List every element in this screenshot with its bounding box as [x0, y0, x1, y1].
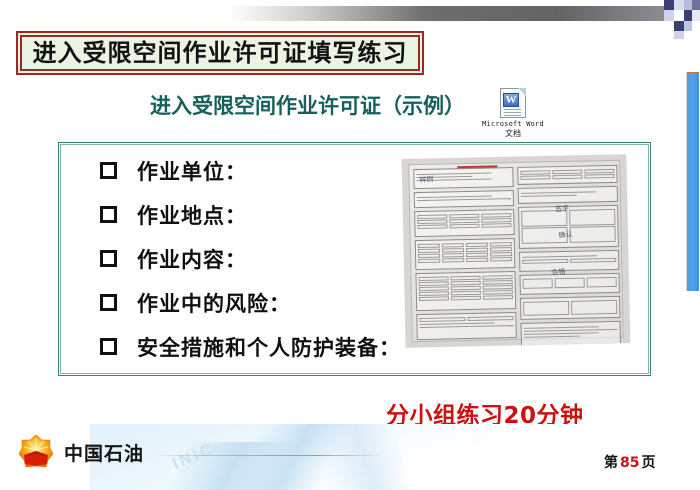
permit-form-photograph: 样例 签字 确认 合格 [402, 155, 630, 348]
hollow-square-bullet-icon [100, 250, 117, 267]
list-item-label: 作业单位： [137, 156, 247, 186]
list-item-label: 作业中的风险： [137, 288, 291, 318]
list-item-label: 安全措施和个人防护装备： [137, 332, 401, 362]
page-number: 第85页 [604, 452, 655, 472]
form-block [519, 250, 619, 272]
page-title: 进入受限空间作业许可证填写练习 [33, 41, 408, 65]
right-blue-strip [687, 72, 699, 291]
form-right-column [517, 165, 621, 337]
hollow-square-bullet-icon [100, 294, 117, 311]
handwriting-mark: 确认 [558, 229, 573, 240]
list-item: 作业地点： [100, 196, 400, 233]
subtitle-row: 进入受限空间作业许可证（示例） W Microsoft Word 文档 [150, 92, 551, 138]
form-block [517, 165, 617, 185]
checker-square [684, 0, 692, 10]
bullet-list: 作业单位： 作业地点： 作业内容： 作业中的风险： 安全措施和个人防护装备： [100, 152, 400, 372]
form-block [520, 273, 620, 295]
list-item: 作业内容： [100, 240, 400, 277]
form-block [520, 296, 620, 320]
permit-form-sheet: 样例 签字 确认 合格 [408, 160, 624, 342]
handwriting-mark: 签字 [555, 203, 570, 214]
handwriting-mark: 样例 [419, 174, 434, 185]
page-number-value: 85 [618, 455, 641, 471]
slide-canvas: 进入受限空间作业许可证填写练习 进入受限空间作业许可证（示例） W Micros… [0, 0, 700, 490]
form-block [414, 190, 514, 208]
list-item: 安全措施和个人防护装备： [100, 328, 400, 365]
form-block [416, 312, 517, 340]
form-left-column [413, 167, 517, 339]
checker-square [684, 21, 692, 31]
footer-divider [150, 455, 385, 456]
list-item-label: 作业地点： [137, 200, 247, 230]
form-block [415, 238, 516, 270]
checker-square [674, 31, 684, 39]
footer-texture-highlight [115, 442, 425, 490]
checker-square [674, 0, 684, 10]
page-fold-corner-icon [518, 88, 526, 96]
handwriting-mark: 合格 [551, 267, 566, 278]
slide-title-box: 进入受限空间作业许可证填写练习 [16, 31, 424, 75]
hollow-square-bullet-icon [100, 338, 117, 355]
list-item: 作业单位： [100, 152, 400, 189]
checker-square [674, 21, 684, 31]
page-label-suffix: 页 [641, 455, 655, 471]
form-block [414, 209, 515, 237]
checker-square [692, 10, 700, 21]
list-item: 作业中的风险： [100, 284, 400, 321]
brand-name: 中国石油 [64, 439, 144, 466]
checker-square [684, 10, 692, 21]
word-caption-line2: 文档 [475, 129, 551, 138]
list-item-label: 作业内容： [137, 244, 247, 274]
page-label-prefix: 第 [604, 455, 618, 471]
hollow-square-bullet-icon [100, 206, 117, 223]
top-gray-gradient-bar [228, 6, 668, 21]
form-block [518, 186, 618, 204]
document-text-lines [504, 109, 521, 118]
word-document-icon[interactable]: W [500, 88, 526, 118]
petrochina-brand: 中国石油 [17, 433, 144, 471]
checker-square [692, 0, 700, 10]
word-document-object[interactable]: W Microsoft Word 文档 [475, 88, 551, 138]
word-w-glyph: W [503, 93, 519, 107]
form-block [415, 271, 516, 311]
hollow-square-bullet-icon [100, 162, 117, 179]
subtitle-text: 进入受限空间作业许可证（示例） [150, 92, 465, 120]
petrochina-logo [17, 433, 55, 471]
word-caption-line1: Microsoft Word [475, 120, 551, 129]
